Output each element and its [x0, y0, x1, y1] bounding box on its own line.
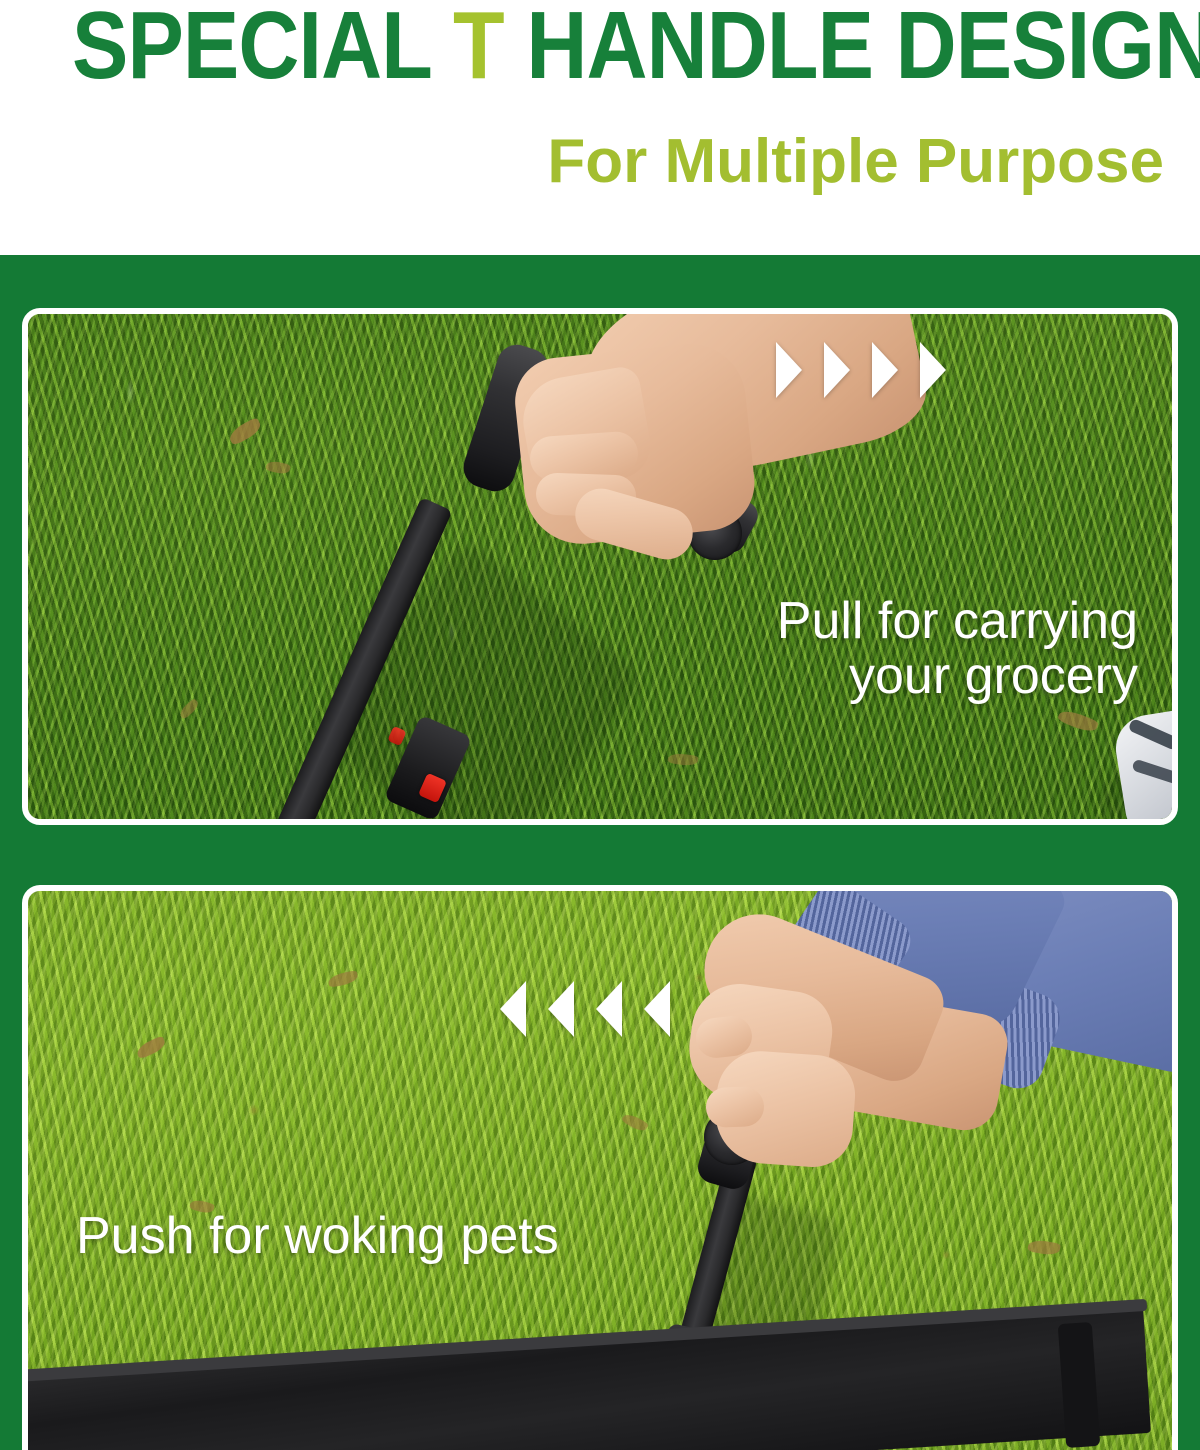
photo-panel-pull: Pull for carrying your grocery — [22, 308, 1178, 825]
headline-part2: HANDLE DESIGN — [504, 0, 1200, 99]
chevron-right-icon — [776, 342, 802, 398]
headline-accent-letter: T — [453, 0, 504, 99]
chevron-left-icon — [548, 981, 574, 1037]
chevron-row-left — [500, 981, 670, 1037]
photo-push-scene: Push for woking pets — [28, 891, 1172, 1450]
chevron-right-icon — [920, 342, 946, 398]
photo-pull-scene: Pull for carrying your grocery — [28, 314, 1172, 819]
photo-panel-push: Push for woking pets — [22, 885, 1178, 1450]
finger-knuckle — [705, 1086, 764, 1128]
headline-part1: SPECIAL — [72, 0, 453, 99]
chevron-left-icon — [596, 981, 622, 1037]
caption-push: Push for woking pets — [76, 1209, 559, 1264]
chevron-row-right — [776, 342, 946, 398]
green-stage: Pull for carrying your grocery — [0, 255, 1200, 1450]
caption-pull: Pull for carrying your grocery — [777, 594, 1138, 704]
chevron-right-icon — [872, 342, 898, 398]
page-subtitle: For Multiple Purpose — [0, 126, 1200, 198]
chevron-left-icon — [500, 981, 526, 1037]
page-title: SPECIAL T HANDLE DESIGN — [72, 0, 1128, 94]
product-feature-image: SPECIAL T HANDLE DESIGN For Multiple Pur… — [0, 0, 1200, 1450]
chevron-left-icon — [644, 981, 670, 1037]
chevron-right-icon — [824, 342, 850, 398]
header-band: SPECIAL T HANDLE DESIGN For Multiple Pur… — [0, 0, 1200, 255]
